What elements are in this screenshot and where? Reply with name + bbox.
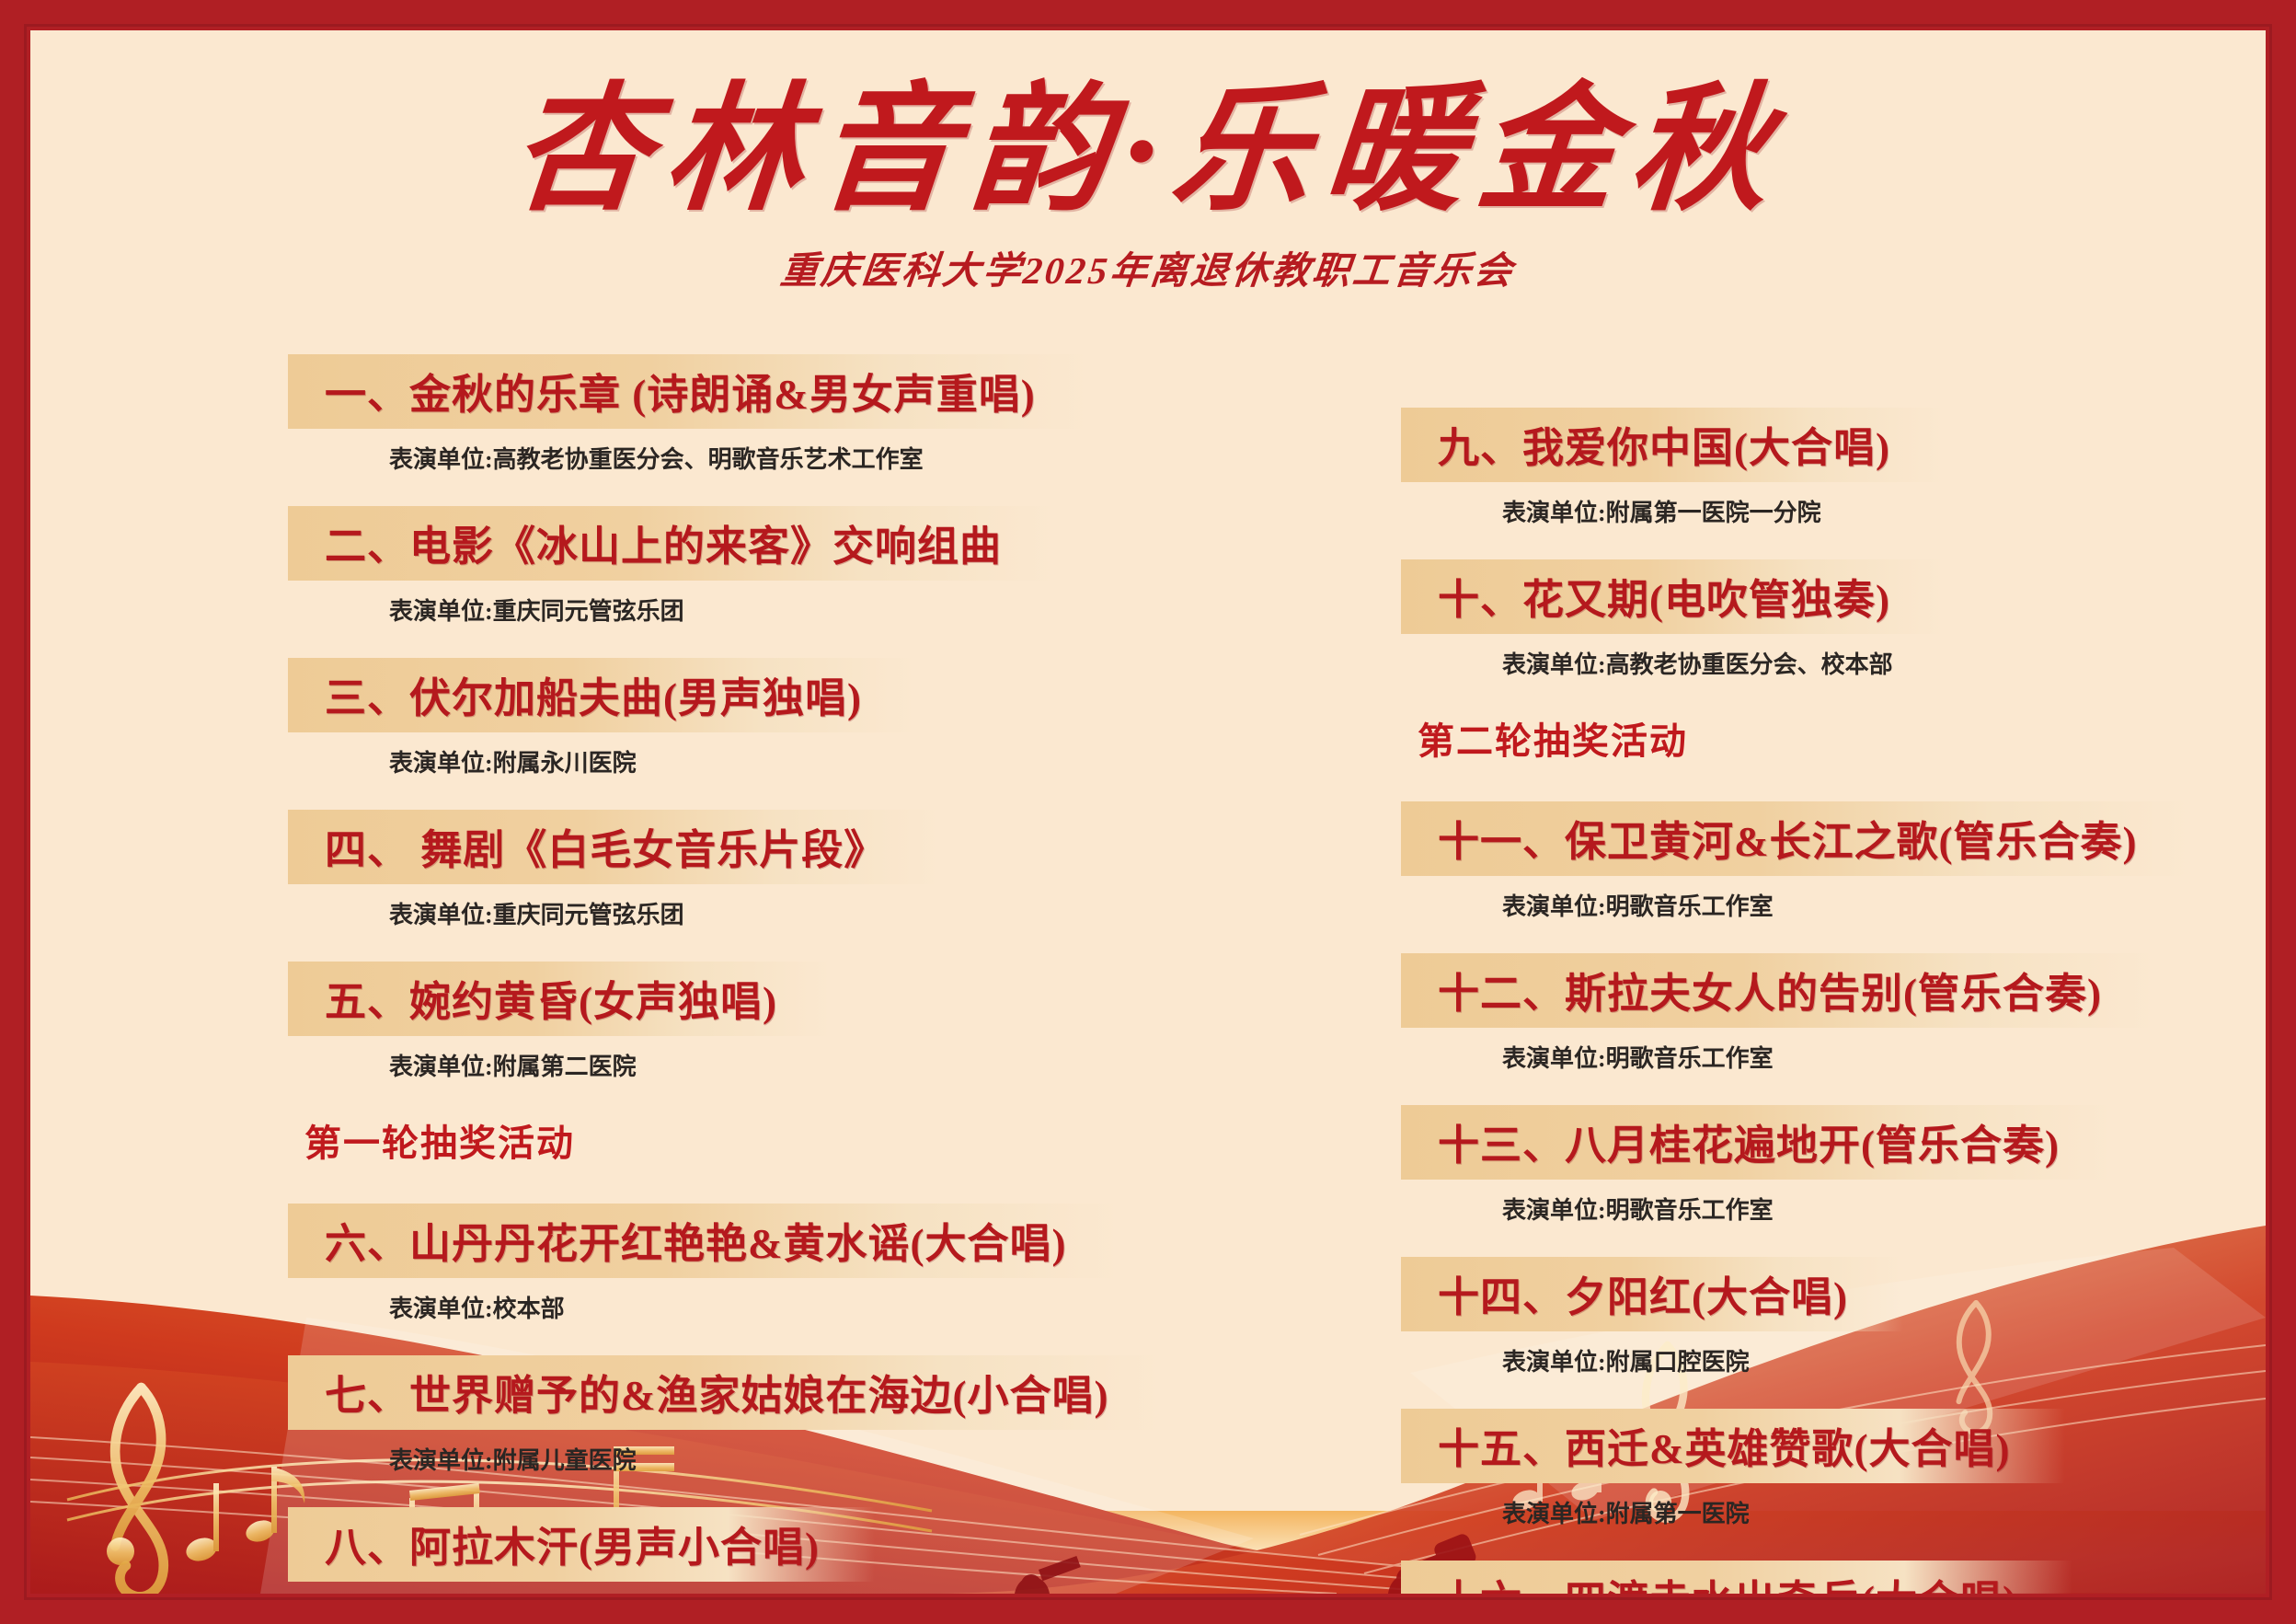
program-performer: 表演单位:明歌音乐工作室 <box>1502 888 2266 922</box>
program-title: 五、婉约黄昏(女声独唱) <box>325 979 777 1025</box>
program-performer: 表演单位:附属永川医院 <box>389 744 1327 778</box>
program-performer: 表演单位:明歌音乐工作室 <box>1502 1040 2266 1074</box>
program-performer: 表演单位:明歌音乐工作室 <box>1502 1192 2266 1226</box>
program-performer: 表演单位:校本部 <box>389 1290 1327 1324</box>
program-title-band: 一、金秋的乐章 (诗朗诵&男女声重唱) <box>288 354 1091 429</box>
lottery-section-heading: 第二轮抽奖活动 <box>1418 711 2266 765</box>
program-entry: 七、世界赠予的&渔家姑娘在海边(小合唱)表演单位:附属儿童医院 <box>288 1355 1327 1476</box>
program-performer: 表演单位:附属儿童医院 <box>389 1442 1327 1476</box>
program-entry: 一、金秋的乐章 (诗朗诵&男女声重唱)表演单位:高教老协重医分会、明歌音乐艺术工… <box>288 354 1327 475</box>
program-title: 九、我爱你中国(大合唱) <box>1438 425 1890 471</box>
program-title-band: 十六、四渡赤水出奇兵(大合唱) <box>1401 1561 2072 1594</box>
program-title-band: 六、山丹丹花开红艳艳&黄水谣(大合唱) <box>288 1204 1121 1278</box>
poster-heading: 杏林音韵·乐暖金秋 重庆医科大学2025年离退休教职工音乐会 <box>30 78 2266 294</box>
program-entry: 四、 舞剧《白毛女音乐片段》表演单位:重庆同元管弦乐团 <box>288 810 1327 930</box>
program-title: 十一、保卫黄河&长江之歌(管乐合奏) <box>1438 819 2137 865</box>
program-title: 十二、斯拉夫女人的告别(管乐合奏) <box>1438 971 2102 1017</box>
poster-paper: 杏林音韵·乐暖金秋 重庆医科大学2025年离退休教职工音乐会 一、金秋的乐章 (… <box>30 30 2266 1594</box>
program-entry: 十六、四渡赤水出奇兵(大合唱)表演单位:附属第二医院 <box>1401 1561 2266 1594</box>
program-performer: 表演单位:附属第一医院一分院 <box>1502 494 2266 528</box>
poster-main-title: 杏林音韵·乐暖金秋 <box>30 78 2266 225</box>
program-performer: 表演单位:附属第二医院 <box>389 1048 1327 1082</box>
program-title-band: 五、婉约黄昏(女声独唱) <box>288 962 832 1036</box>
program-entry: 十二、斯拉夫女人的告别(管乐合奏)表演单位:明歌音乐工作室 <box>1401 953 2266 1074</box>
program-title: 十、花又期(电吹管独奏) <box>1438 577 1890 623</box>
program-performer: 表演单位:重庆同元管弦乐团 <box>389 593 1327 627</box>
program-entry: 八、阿拉木汗(男声小合唱)表演单位:校本部 <box>288 1507 1327 1594</box>
program-title: 七、世界赠予的&渔家姑娘在海边(小合唱) <box>325 1373 1108 1419</box>
program-performer: 表演单位:重庆同元管弦乐团 <box>389 896 1327 930</box>
program-title-band: 十、花又期(电吹管独奏) <box>1401 559 1946 634</box>
program-columns: 一、金秋的乐章 (诗朗诵&男女声重唱)表演单位:高教老协重医分会、明歌音乐艺术工… <box>30 354 2266 1594</box>
program-performer: 表演单位:高教老协重医分会、明歌音乐艺术工作室 <box>389 441 1327 475</box>
program-entry: 十一、保卫黄河&长江之歌(管乐合奏)表演单位:明歌音乐工作室 <box>1401 801 2266 922</box>
program-title-band: 三、伏尔加船夫曲(男声独唱) <box>288 658 917 732</box>
program-entry: 十四、夕阳红(大合唱)表演单位:附属口腔医院 <box>1401 1257 2266 1377</box>
program-title-band: 七、世界赠予的&渔家姑娘在海边(小合唱) <box>288 1355 1164 1430</box>
program-column-right: 九、我爱你中国(大合唱)表演单位:附属第一医院一分院十、花又期(电吹管独奏)表演… <box>1401 408 2266 1594</box>
program-title-band: 十五、西迁&英雄赞歌(大合唱) <box>1401 1409 2065 1483</box>
program-performer: 表演单位:附属第一医院 <box>1502 1495 2266 1529</box>
program-title-band: 十四、夕阳红(大合唱) <box>1401 1257 1903 1331</box>
lottery-section-heading: 第一轮抽奖活动 <box>304 1113 1327 1167</box>
program-title: 十四、夕阳红(大合唱) <box>1438 1274 1848 1320</box>
poster-sub-title: 重庆医科大学2025年离退休教职工音乐会 <box>30 239 2266 294</box>
program-entry: 十三、八月桂花遍地开(管乐合奏)表演单位:明歌音乐工作室 <box>1401 1105 2266 1226</box>
program-performer: 表演单位:附属口腔医院 <box>1502 1343 2266 1377</box>
program-title: 八、阿拉木汗(男声小合唱) <box>325 1525 820 1571</box>
concert-program-poster: 杏林音韵·乐暖金秋 重庆医科大学2025年离退休教职工音乐会 一、金秋的乐章 (… <box>0 0 2296 1624</box>
program-title: 三、伏尔加船夫曲(男声独唱) <box>325 675 862 721</box>
program-title: 二、电影《冰山上的来客》交响组曲 <box>325 524 1002 570</box>
program-title-band: 十一、保卫黄河&长江之歌(管乐合奏) <box>1401 801 2192 876</box>
program-entry: 九、我爱你中国(大合唱)表演单位:附属第一医院一分院 <box>1401 408 2266 528</box>
program-title: 六、山丹丹花开红艳艳&黄水谣(大合唱) <box>325 1221 1066 1267</box>
program-title-band: 十三、八月桂花遍地开(管乐合奏) <box>1401 1105 2115 1180</box>
program-entry: 十五、西迁&英雄赞歌(大合唱)表演单位:附属第一医院 <box>1401 1409 2266 1529</box>
program-title-band: 十二、斯拉夫女人的告别(管乐合奏) <box>1401 953 2157 1028</box>
program-entry: 六、山丹丹花开红艳艳&黄水谣(大合唱)表演单位:校本部 <box>288 1204 1327 1324</box>
program-title: 十五、西迁&英雄赞歌(大合唱) <box>1438 1426 2010 1472</box>
program-title-band: 八、阿拉木汗(男声小合唱) <box>288 1507 875 1582</box>
program-column-left: 一、金秋的乐章 (诗朗诵&男女声重唱)表演单位:高教老协重医分会、明歌音乐艺术工… <box>288 354 1327 1594</box>
program-entry: 三、伏尔加船夫曲(男声独唱)表演单位:附属永川医院 <box>288 658 1327 778</box>
program-title: 十六、四渡赤水出奇兵(大合唱) <box>1438 1578 2017 1594</box>
program-title: 四、 舞剧《白毛女音乐片段》 <box>325 827 886 873</box>
program-entry: 二、电影《冰山上的来客》交响组曲表演单位:重庆同元管弦乐团 <box>288 506 1327 627</box>
program-title: 一、金秋的乐章 (诗朗诵&男女声重唱) <box>325 372 1036 418</box>
program-entry: 十、花又期(电吹管独奏)表演单位:高教老协重医分会、校本部 <box>1401 559 2266 680</box>
program-performer: 表演单位:高教老协重医分会、校本部 <box>1502 646 2266 680</box>
program-title: 十三、八月桂花遍地开(管乐合奏) <box>1438 1123 2060 1169</box>
program-title-band: 四、 舞剧《白毛女音乐片段》 <box>288 810 941 884</box>
program-title-band: 九、我爱你中国(大合唱) <box>1401 408 1946 482</box>
program-title-band: 二、电影《冰山上的来客》交响组曲 <box>288 506 1057 581</box>
program-entry: 五、婉约黄昏(女声独唱)表演单位:附属第二医院 <box>288 962 1327 1082</box>
